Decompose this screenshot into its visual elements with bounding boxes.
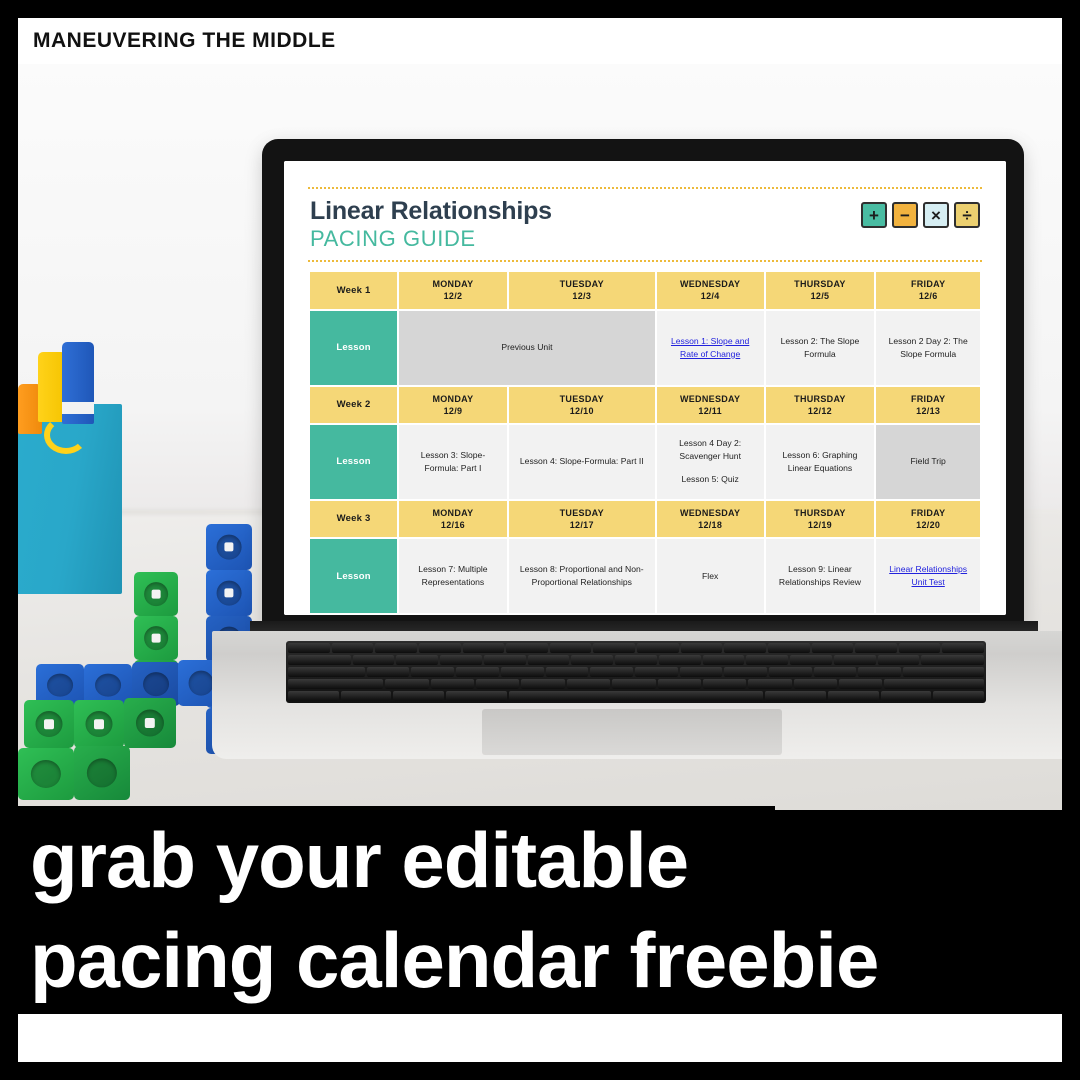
lesson-cell: Lesson 2 Day 2: The Slope Formula	[876, 311, 980, 385]
lesson-cell: Previous Unit	[399, 311, 655, 385]
lesson-cell: Lesson 8: Proportional and Non-Proportio…	[509, 539, 655, 613]
lesson-text-secondary: Lesson 5: Quiz	[662, 473, 759, 486]
laptop-keyboard	[286, 641, 986, 703]
header-divider	[308, 260, 982, 262]
laptop-screen: Linear Relationships PACING GUIDE + − × …	[284, 161, 1006, 615]
day-date: 12/2	[401, 290, 505, 302]
times-icon: ×	[923, 202, 949, 228]
title-block: Linear Relationships PACING GUIDE	[310, 198, 552, 252]
table-row: Week 3 MONDAY 12/16 TUESDAY 12/17	[310, 501, 980, 537]
day-header: THURSDAY 12/5	[766, 272, 875, 308]
laptop: Linear Relationships PACING GUIDE + − × …	[62, 64, 1022, 769]
table-row: Lesson Lesson 3: Slope-Formula: Part I L…	[310, 425, 980, 499]
laptop-trackpad	[482, 709, 782, 755]
brand-name: MANEUVERING THE MIDDLE	[33, 29, 336, 53]
lesson-text-primary: Lesson 4 Day 2: Scavenger Hunt	[679, 438, 741, 461]
lesson-cell: Linear Relationships Unit Test	[876, 539, 980, 613]
unit-test-link[interactable]: Linear Relationships Unit Test	[881, 563, 975, 589]
lesson-cell: Lesson 1: Slope and Rate of Change	[657, 311, 764, 385]
promo-banner-line2: pacing calendar freebie	[0, 906, 977, 1014]
day-date: 12/12	[768, 405, 873, 417]
day-name: FRIDAY	[878, 507, 978, 519]
day-header: WEDNESDAY 12/11	[657, 387, 764, 423]
keyboard-row	[288, 655, 984, 665]
divide-icon: ÷	[954, 202, 980, 228]
lesson-cell: Lesson 6: Graphing Linear Equations	[766, 425, 875, 499]
day-name: FRIDAY	[878, 278, 978, 290]
bottom-white-bar	[18, 1014, 1062, 1062]
day-name: TUESDAY	[511, 278, 653, 290]
day-name: MONDAY	[401, 393, 505, 405]
day-header: MONDAY 12/9	[399, 387, 507, 423]
day-name: FRIDAY	[878, 393, 978, 405]
lesson-row-label: Lesson	[310, 539, 397, 613]
day-date: 12/18	[659, 519, 762, 531]
day-name: WEDNESDAY	[659, 507, 762, 519]
keyboard-row	[288, 643, 984, 653]
laptop-lid: Linear Relationships PACING GUIDE + − × …	[262, 139, 1024, 629]
day-name: MONDAY	[401, 278, 505, 290]
lesson-row-label: Lesson	[310, 425, 397, 499]
table-row: Lesson Lesson 7: Multiple Representation…	[310, 539, 980, 613]
minus-icon: −	[892, 202, 918, 228]
day-name: WEDNESDAY	[659, 393, 762, 405]
day-header: TUESDAY 12/3	[509, 272, 655, 308]
promo-text-line1: grab your editable	[0, 821, 688, 899]
day-name: THURSDAY	[768, 278, 873, 290]
day-date: 12/20	[878, 519, 978, 531]
day-date: 12/3	[511, 290, 653, 302]
keyboard-row	[288, 667, 984, 677]
table-row: Lesson Previous Unit Lesson 1: Slope and…	[310, 311, 980, 385]
lesson-cell: Field Trip	[876, 425, 980, 499]
day-date: 12/4	[659, 290, 762, 302]
lesson-cell: Lesson 7: Multiple Representations	[399, 539, 507, 613]
day-date: 12/6	[878, 290, 978, 302]
day-header: FRIDAY 12/6	[876, 272, 980, 308]
lesson-cell: Flex	[657, 539, 764, 613]
product-photo: Linear Relationships PACING GUIDE + − × …	[18, 64, 1062, 810]
day-name: TUESDAY	[511, 507, 653, 519]
pacing-guide-document: Linear Relationships PACING GUIDE + − × …	[284, 161, 1006, 615]
plus-icon: +	[861, 202, 887, 228]
lesson-row-label: Lesson	[310, 311, 397, 385]
day-date: 12/16	[401, 519, 505, 531]
day-header: TUESDAY 12/10	[509, 387, 655, 423]
day-date: 12/13	[878, 405, 978, 417]
table-row: Week 1 MONDAY 12/2 TUESDAY 12/3	[310, 272, 980, 308]
day-date: 12/19	[768, 519, 873, 531]
week-label: Week 2	[310, 387, 397, 423]
week-label: Week 1	[310, 272, 397, 308]
day-header: THURSDAY 12/19	[766, 501, 875, 537]
day-name: THURSDAY	[768, 507, 873, 519]
day-header: WEDNESDAY 12/18	[657, 501, 764, 537]
promo-banner-line1: grab your editable	[0, 806, 775, 914]
day-date: 12/11	[659, 405, 762, 417]
lesson-cell: Lesson 3: Slope-Formula: Part I	[399, 425, 507, 499]
day-header: TUESDAY 12/17	[509, 501, 655, 537]
day-header: THURSDAY 12/12	[766, 387, 875, 423]
pacing-table: Week 1 MONDAY 12/2 TUESDAY 12/3	[308, 270, 982, 615]
brand-bar: MANEUVERING THE MIDDLE	[18, 18, 1062, 64]
document-header: Linear Relationships PACING GUIDE + − × …	[308, 189, 982, 260]
day-name: TUESDAY	[511, 393, 653, 405]
table-row: Week 2 MONDAY 12/9 TUESDAY 12/10	[310, 387, 980, 423]
page-title: Linear Relationships	[310, 198, 552, 224]
day-header: WEDNESDAY 12/4	[657, 272, 764, 308]
day-date: 12/10	[511, 405, 653, 417]
top-divider	[308, 187, 982, 189]
day-header: FRIDAY 12/13	[876, 387, 980, 423]
day-date: 12/5	[768, 290, 873, 302]
lesson-cell: Lesson 4: Slope-Formula: Part II	[509, 425, 655, 499]
lesson-cell: Lesson 2: The Slope Formula	[766, 311, 875, 385]
lesson-cell: Lesson 4 Day 2: Scavenger Hunt Lesson 5:…	[657, 425, 764, 499]
day-header: MONDAY 12/16	[399, 501, 507, 537]
day-header: FRIDAY 12/20	[876, 501, 980, 537]
promo-graphic: MANEUVERING THE MIDDLE	[0, 0, 1080, 1080]
promo-text-line2: pacing calendar freebie	[0, 921, 878, 999]
day-name: WEDNESDAY	[659, 278, 762, 290]
lesson-link[interactable]: Lesson 1: Slope and Rate of Change	[662, 335, 759, 361]
keyboard-row	[288, 691, 984, 701]
operator-icon-group: + − × ÷	[861, 202, 980, 228]
day-date: 12/9	[401, 405, 505, 417]
day-header: MONDAY 12/2	[399, 272, 507, 308]
week-label: Week 3	[310, 501, 397, 537]
keyboard-row	[288, 679, 984, 689]
day-name: THURSDAY	[768, 393, 873, 405]
day-name: MONDAY	[401, 507, 505, 519]
lesson-cell: Lesson 9: Linear Relationships Review	[766, 539, 875, 613]
day-date: 12/17	[511, 519, 653, 531]
page-subtitle: PACING GUIDE	[310, 226, 552, 252]
